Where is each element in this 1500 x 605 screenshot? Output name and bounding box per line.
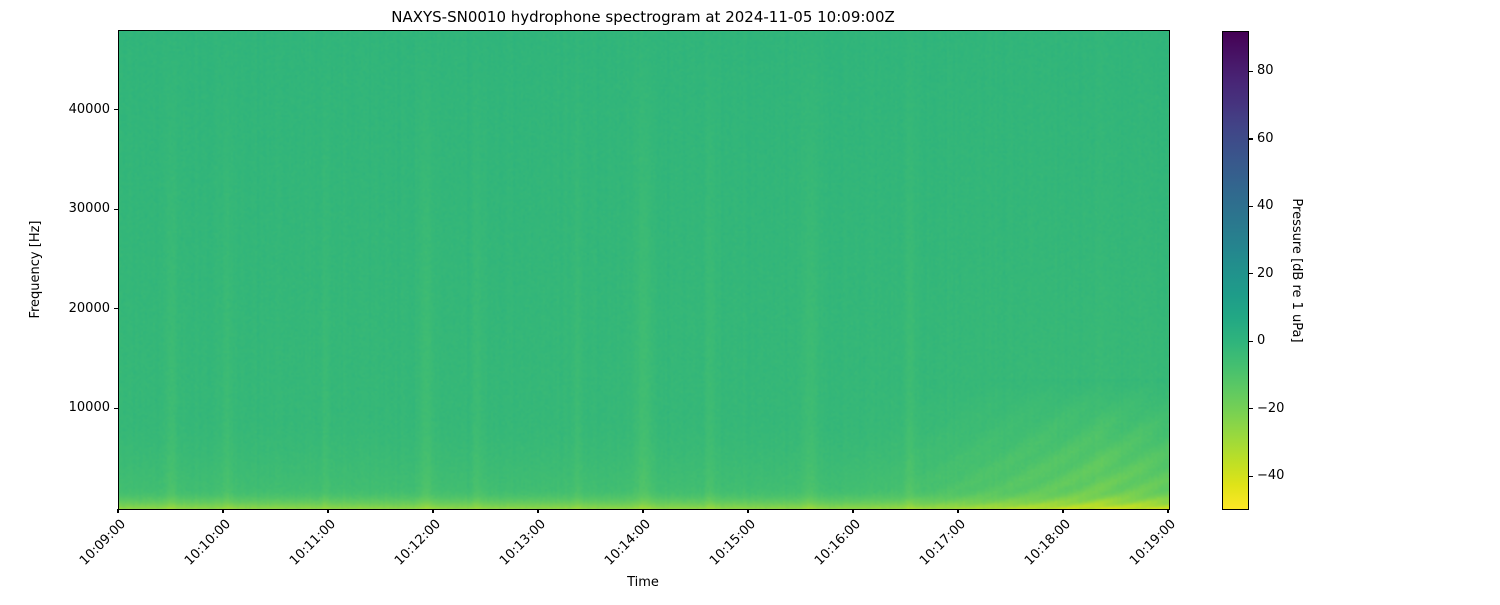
x-tick-label: 10:13:00	[461, 516, 550, 605]
x-tick-label: 10:12:00	[356, 516, 445, 605]
colorbar-tick-label: −20	[1257, 400, 1284, 418]
x-tick-label: 10:18:00	[986, 516, 1075, 605]
colorbar-tick-group: −40−20020406080	[1222, 31, 1342, 510]
y-axis-label: Frequency [Hz]	[28, 30, 44, 509]
colorbar-tick-mark	[1249, 206, 1253, 207]
x-tick-mark	[747, 509, 748, 513]
colorbar-tick-mark	[1249, 273, 1253, 274]
x-tick-mark	[432, 509, 433, 513]
x-tick-label: 10:15:00	[671, 516, 760, 605]
x-tick-mark	[537, 509, 538, 513]
x-tick-mark	[957, 509, 958, 513]
colorbar-tick-mark	[1249, 341, 1253, 342]
y-axis: 10000200003000040000	[0, 30, 118, 509]
x-tick-label: 10:10:00	[146, 516, 235, 605]
colorbar-tick-mark	[1249, 71, 1253, 72]
y-tick-mark	[114, 109, 118, 110]
x-tick-label: 10:17:00	[881, 516, 970, 605]
colorbar-label: Pressure [dB re 1 uPa]	[1288, 31, 1304, 510]
x-tick-label: 10:11:00	[251, 516, 340, 605]
colorbar-tick-label: 20	[1257, 265, 1274, 283]
colorbar-tick-label: −40	[1257, 467, 1284, 485]
x-tick-mark	[1167, 509, 1168, 513]
colorbar-tick-mark	[1249, 138, 1253, 139]
y-tick-mark	[114, 209, 118, 210]
x-tick-label: 10:16:00	[776, 516, 865, 605]
x-tick-mark	[222, 509, 223, 513]
colorbar-tick-label: 60	[1257, 130, 1274, 148]
x-axis-label: Time	[118, 575, 1168, 591]
x-tick-mark	[327, 509, 328, 513]
colorbar-tick-label: 0	[1257, 332, 1265, 350]
colorbar-tick-label: 40	[1257, 197, 1274, 215]
x-tick-mark	[117, 509, 118, 513]
x-tick-label: 10:14:00	[566, 516, 655, 605]
x-tick-label: 10:19:00	[1091, 516, 1180, 605]
y-tick-label: 20000	[69, 300, 110, 318]
x-tick-mark	[642, 509, 643, 513]
y-tick-mark	[114, 308, 118, 309]
spectrogram-heatmap	[119, 31, 1169, 509]
spectrogram-plot-area[interactable]	[118, 30, 1170, 510]
colorbar-tick-mark	[1249, 408, 1253, 409]
colorbar-tick-label: 80	[1257, 62, 1274, 80]
y-tick-label: 10000	[69, 399, 110, 417]
page-title: NAXYS-SN0010 hydrophone spectrogram at 2…	[118, 8, 1168, 26]
y-tick-label: 30000	[69, 200, 110, 218]
x-tick-mark	[852, 509, 853, 513]
y-tick-label: 40000	[69, 101, 110, 119]
x-tick-mark	[1062, 509, 1063, 513]
x-axis: 10:09:0010:10:0010:11:0010:12:0010:13:00…	[118, 509, 1168, 579]
y-tick-mark	[114, 408, 118, 409]
x-tick-label: 10:09:00	[41, 516, 130, 605]
colorbar-tick-mark	[1249, 476, 1253, 477]
spectrogram-figure: NAXYS-SN0010 hydrophone spectrogram at 2…	[0, 0, 1500, 600]
